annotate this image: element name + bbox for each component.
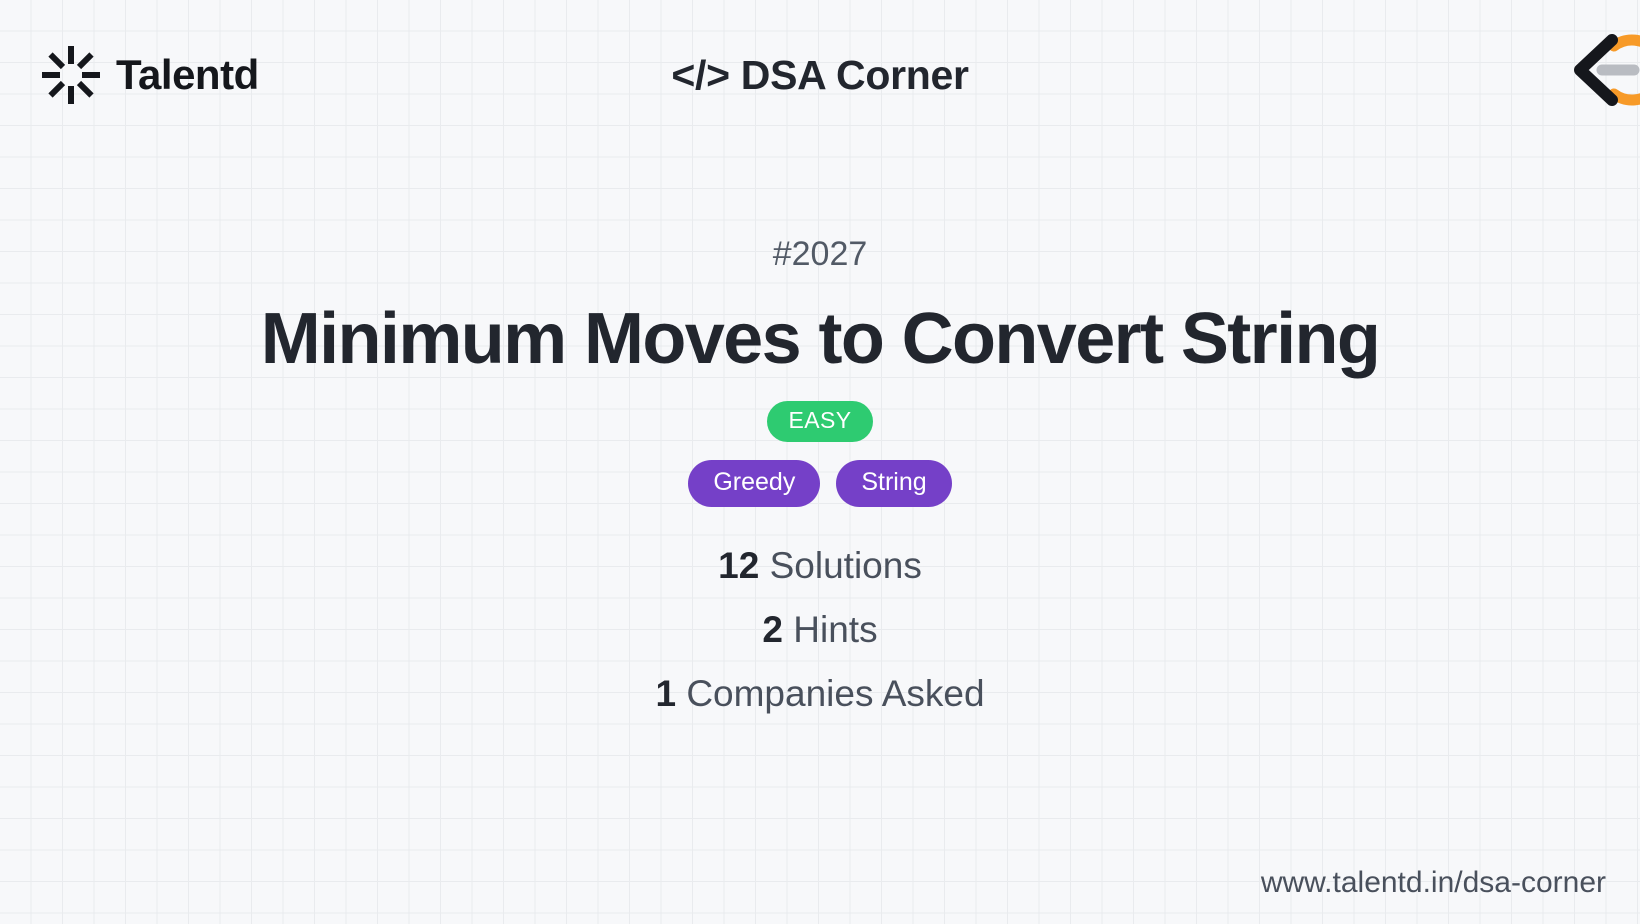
- problem-title: Minimum Moves to Convert String: [0, 301, 1640, 377]
- stat-value: 1: [655, 673, 676, 714]
- poster-content: #2027 Minimum Moves to Convert String EA…: [0, 155, 1640, 739]
- page-header: Talentd </> DSA Corner: [0, 0, 1640, 155]
- tag-chip[interactable]: Greedy: [688, 460, 820, 507]
- talentd-corner-chevron-icon: [1550, 22, 1640, 118]
- footer-url[interactable]: www.talentd.in/dsa-corner: [1261, 868, 1606, 898]
- stat-hints: 2 Hints: [0, 611, 1640, 648]
- tag-chip[interactable]: String: [836, 460, 951, 507]
- stat-companies-asked: 1 Companies Asked: [0, 675, 1640, 712]
- stat-label: Companies Asked: [686, 673, 984, 714]
- stat-value: 12: [718, 545, 759, 586]
- difficulty-row: EASY: [0, 401, 1640, 441]
- stats-list: 12 Solutions 2 Hints 1 Companies Asked: [0, 547, 1640, 712]
- tag-list: Greedy String: [0, 460, 1640, 507]
- difficulty-badge: EASY: [767, 401, 874, 441]
- poster-canvas: Talentd </> DSA Corner #2027 Minimum Mov…: [0, 0, 1640, 924]
- stat-label: Hints: [793, 609, 877, 650]
- stat-solutions: 12 Solutions: [0, 547, 1640, 584]
- problem-number: #2027: [0, 237, 1640, 271]
- stat-label: Solutions: [770, 545, 922, 586]
- page-title: </> DSA Corner: [0, 52, 1640, 99]
- stat-value: 2: [762, 609, 783, 650]
